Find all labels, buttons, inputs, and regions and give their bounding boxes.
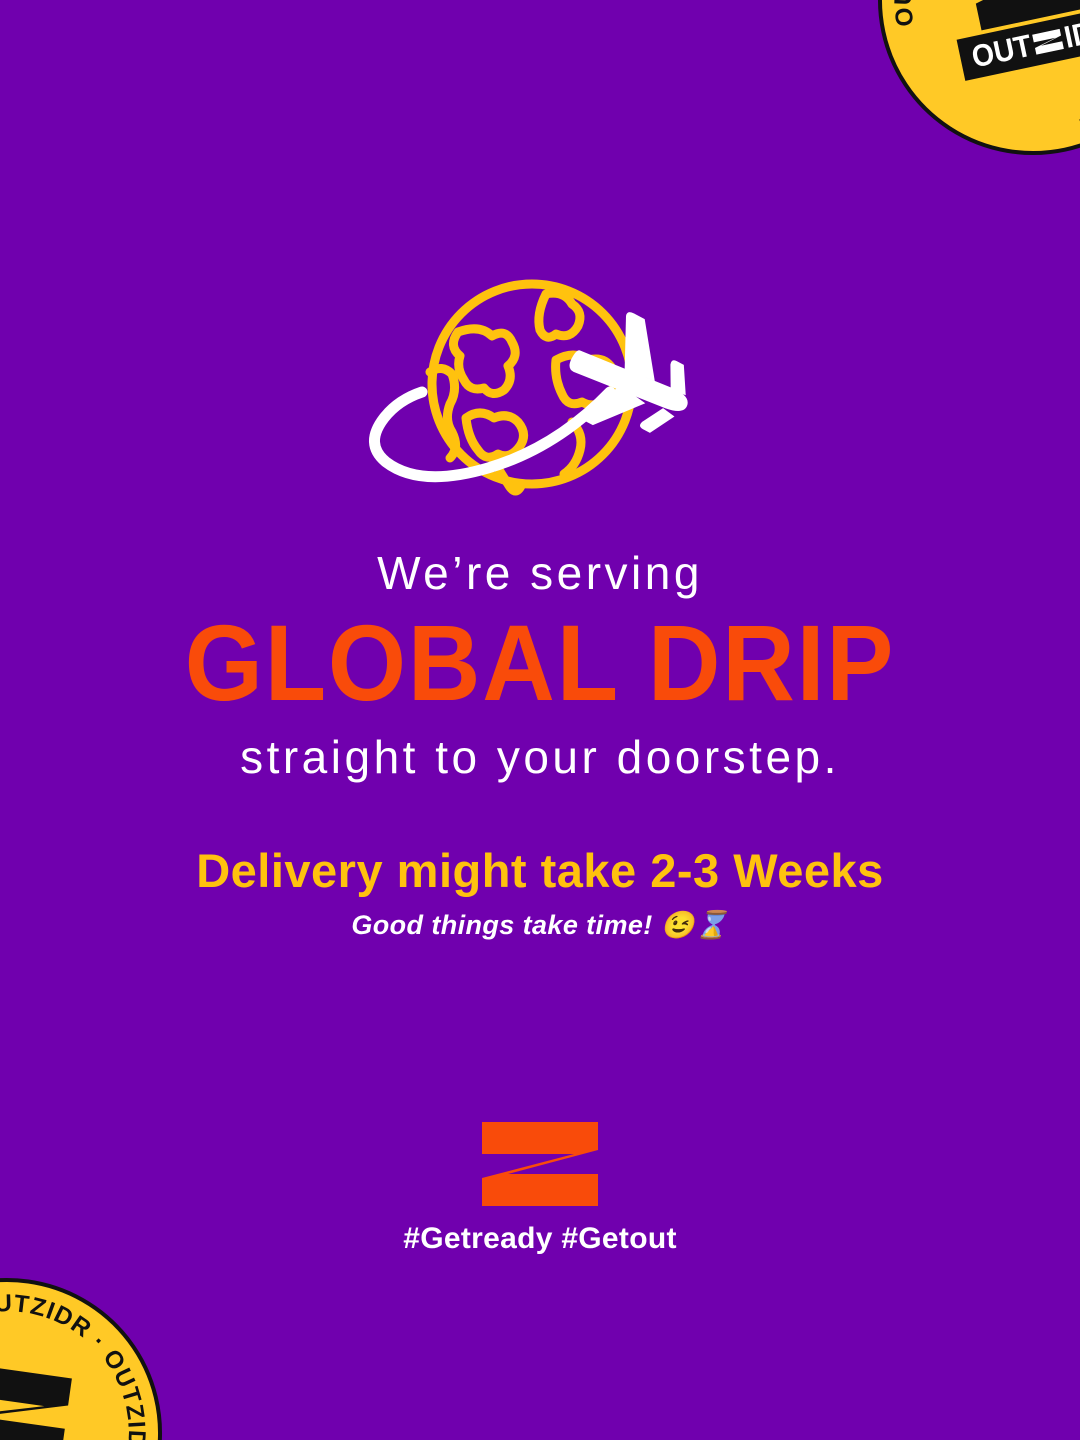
outzidr-z-logo-icon [478,1120,602,1208]
page-title: GLOBAL DRIP [38,609,1042,717]
eyebrow-text: We’re serving [0,548,1080,599]
footer-block: #Getready #Getout [0,1120,1080,1256]
copy-block: We’re serving GLOBAL DRIP straight to yo… [0,548,1080,942]
outzidr-badge-bottom-left: OUTZIDR · OUTZIDR · OUTZIDR · OUTZIDR · … [0,1258,182,1440]
poster-canvas: We’re serving GLOBAL DRIP straight to yo… [0,0,1080,1440]
globe-with-airplane-icon [360,272,720,512]
hashtags-text: #Getready #Getout [403,1222,677,1256]
outzidr-z-glyph-icon [1031,25,1066,57]
time-note: Good things take time! 😉⌛ [0,909,1080,941]
delivery-note: Delivery might take 2-3 Weeks [0,845,1080,897]
badge-wordmark-left-tr: OUT [969,30,1034,73]
outzidr-badge-top-right: OUTZIDR · OUTZIDR · OUTZIDR · OUTZIDR · … [849,0,1080,184]
subhead-text: straight to your doorstep. [0,731,1080,784]
